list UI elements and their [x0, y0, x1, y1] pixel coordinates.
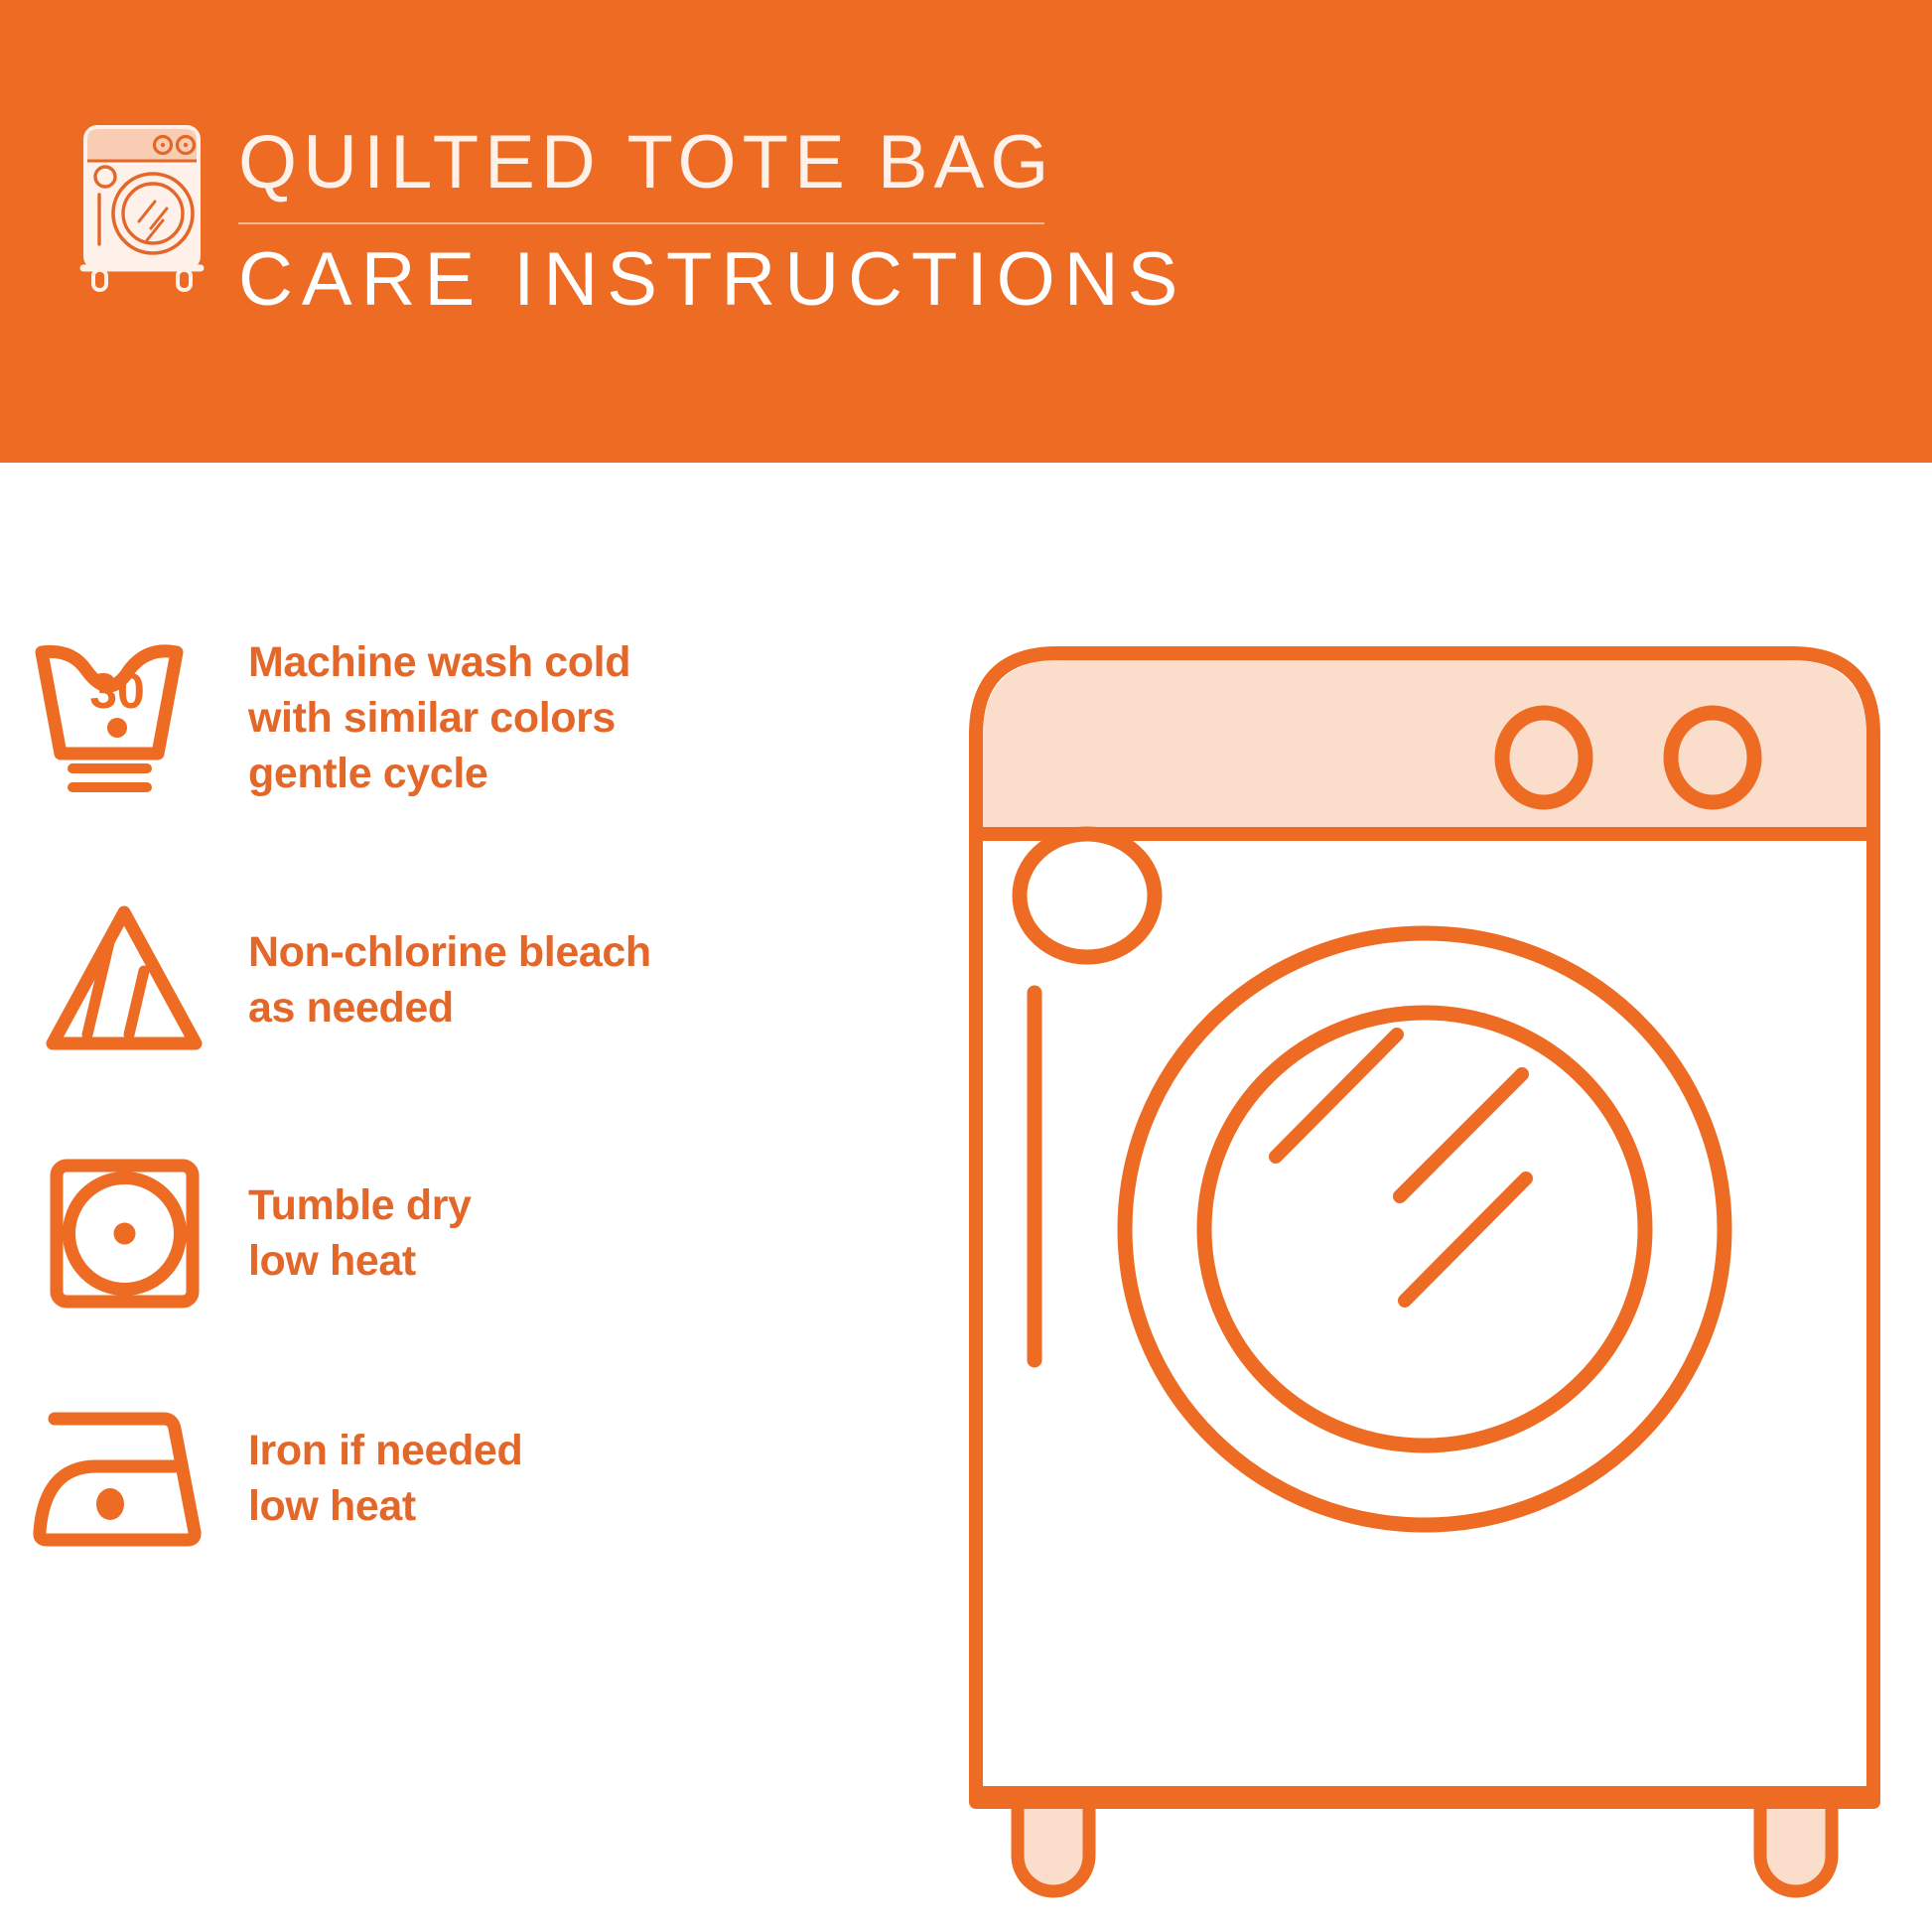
header-titles: QUILTED TOTE BAG CARE INSTRUCTIONS	[238, 119, 1186, 318]
control-knob	[1502, 713, 1586, 802]
care-item-label: Machine wash cold with similar colors ge…	[248, 635, 630, 802]
header-banner: QUILTED TOTE BAG CARE INSTRUCTIONS	[0, 0, 1932, 463]
wash-tub-30-icon: 30	[0, 636, 248, 800]
page-subtitle: CARE INSTRUCTIONS	[238, 242, 1186, 318]
header-content: QUILTED TOTE BAG CARE INSTRUCTIONS	[68, 119, 1186, 318]
control-knob	[1671, 713, 1754, 802]
washing-machine-illustration	[948, 625, 1901, 1906]
bleach-triangle-icon	[0, 898, 248, 1062]
washing-machine-icon	[68, 119, 216, 293]
iron-icon	[0, 1405, 248, 1554]
care-item-machine-wash: 30 Machine wash cold with similar colors…	[0, 635, 630, 802]
page-title: QUILTED TOTE BAG	[238, 125, 1186, 201]
tumble-dry-icon	[0, 1152, 248, 1315]
care-item-label: Tumble dry low heat	[248, 1178, 472, 1290]
care-item-label: Iron if needed low heat	[248, 1424, 522, 1535]
care-item-bleach: Non-chlorine bleach as needed	[0, 898, 651, 1062]
care-item-tumble-dry: Tumble dry low heat	[0, 1152, 472, 1315]
care-item-label: Non-chlorine bleach as needed	[248, 925, 651, 1036]
care-item-iron: Iron if needed low heat	[0, 1405, 522, 1554]
svg-text:30: 30	[89, 663, 145, 719]
title-divider	[238, 222, 1044, 224]
